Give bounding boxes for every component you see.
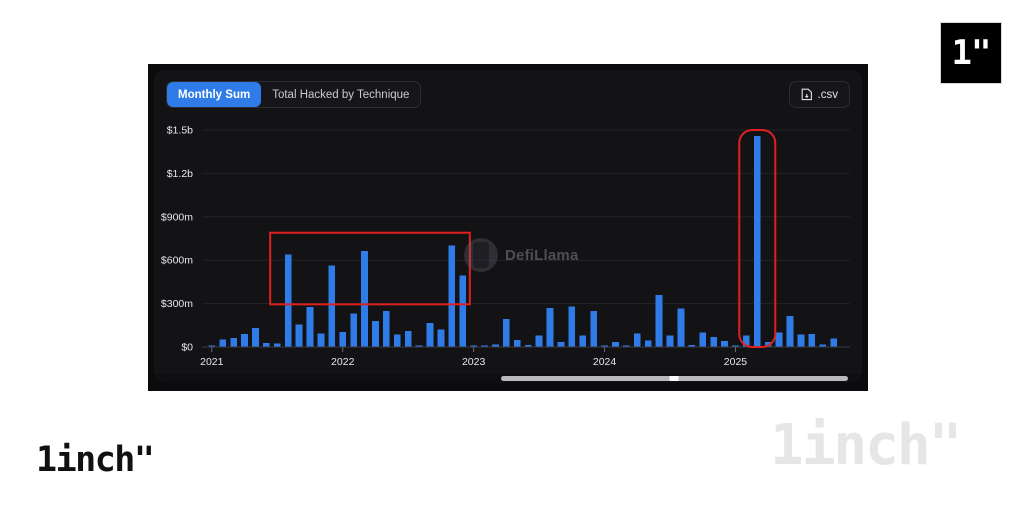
bar-2021-10[interactable] [307,307,314,347]
bar-2021-12[interactable] [328,265,335,347]
horizontal-scrollbar-track[interactable] [154,374,862,383]
y-axis-tick-label: $900m [161,211,193,223]
y-axis-tick-label: $600m [161,255,193,267]
brand-wordmark-1inch: 1inch" [36,443,153,478]
bar-2024-08[interactable] [678,309,685,347]
x-axis-tick-label: 2023 [462,356,486,368]
y-axis-tick-label: $1.2b [167,168,193,180]
bar-2023-12[interactable] [590,311,597,347]
bar-2021-03[interactable] [230,338,237,347]
bar-2023-08[interactable] [547,308,554,347]
bar-2022-10[interactable] [438,330,445,347]
bar-2024-06[interactable] [656,295,663,347]
chart-view-tab-group[interactable]: Monthly Sum Total Hacked by Technique [166,81,421,108]
bar-2024-04[interactable] [634,333,641,347]
bar-2024-11[interactable] [710,337,717,347]
bar-2021-02[interactable] [219,339,226,347]
file-download-icon [801,88,813,101]
bar-2022-07[interactable] [405,331,412,347]
bar-2022-04[interactable] [372,321,379,347]
bar-2021-05[interactable] [252,328,259,347]
bar-2022-12[interactable] [459,275,466,347]
bar-2023-10[interactable] [568,306,575,347]
annotation-2021-2022-cluster-highlight [270,233,470,305]
brand-badge-1inch: 1" [940,22,1002,84]
defillama-hacks-chart-card: Monthly Sum Total Hacked by Technique .c… [154,70,862,383]
brand-badge-glyph: 1" [952,36,991,70]
x-axis-labels: 20212022202320242025 [200,356,747,368]
x-axis-tick-label: 2025 [724,356,748,368]
bar-2024-10[interactable] [699,333,706,347]
bar-2021-08[interactable] [285,254,292,347]
chart-plot-area: $0$300m$600m$900m$1.2b$1.5b 202120222023… [154,122,862,383]
bar-2024-12[interactable] [721,341,728,347]
download-csv-label: .csv [818,89,838,101]
tab-total-hacked-by-technique-label: Total Hacked by Technique [272,89,409,101]
y-axis-labels: $0$300m$600m$900m$1.2b$1.5b [161,125,193,354]
bar-2025-03[interactable] [754,136,761,347]
bar-2021-11[interactable] [318,333,325,347]
tab-monthly-sum-label: Monthly Sum [178,89,250,101]
bar-undefined[interactable] [830,339,837,347]
x-axis-tick-label: 2022 [331,356,355,368]
bar-2023-07[interactable] [536,335,543,347]
bar-2025-06[interactable] [787,316,794,347]
bar-2022-11[interactable] [448,246,455,347]
bar-2021-07[interactable] [274,343,281,347]
bar-2025-05[interactable] [776,333,783,347]
bar-chart-svg: $0$300m$600m$900m$1.2b$1.5b 202120222023… [154,122,862,383]
bar-2022-01[interactable] [339,332,346,347]
bar-2023-05[interactable] [514,340,521,347]
tab-total-hacked-by-technique[interactable]: Total Hacked by Technique [261,82,420,107]
y-axis-tick-label: $0 [181,342,193,354]
gridlines [202,130,850,304]
y-axis-tick-label: $1.5b [167,125,193,137]
bar-2024-05[interactable] [645,340,652,347]
bar-2024-07[interactable] [667,336,674,347]
bar-2022-03[interactable] [361,251,368,347]
bar-2022-06[interactable] [394,335,401,347]
chart-toolbar: Monthly Sum Total Hacked by Technique .c… [154,70,862,122]
bar-2025-08[interactable] [808,334,815,347]
download-csv-button[interactable]: .csv [789,81,850,108]
bar-2025-07[interactable] [798,335,805,347]
bars [208,136,837,347]
horizontal-scrollbar-thumb[interactable] [501,376,848,381]
x-axis-tick-label: 2021 [200,356,224,368]
bar-2023-09[interactable] [558,342,565,347]
tab-monthly-sum[interactable]: Monthly Sum [167,82,261,107]
bar-2021-04[interactable] [241,334,248,347]
annotations [270,130,775,347]
x-axis-tick-label: 2024 [593,356,617,368]
bar-2022-05[interactable] [383,311,390,347]
y-axis-tick-label: $300m [161,298,193,310]
bar-2023-11[interactable] [579,335,586,347]
bar-2022-09[interactable] [427,323,434,347]
bar-2024-02[interactable] [612,342,619,347]
bar-2021-09[interactable] [296,325,303,347]
bar-2023-04[interactable] [503,319,510,347]
bar-2021-06[interactable] [263,343,270,347]
bar-2022-02[interactable] [350,314,357,347]
brand-watermark-1inch: 1inch" [770,418,960,474]
